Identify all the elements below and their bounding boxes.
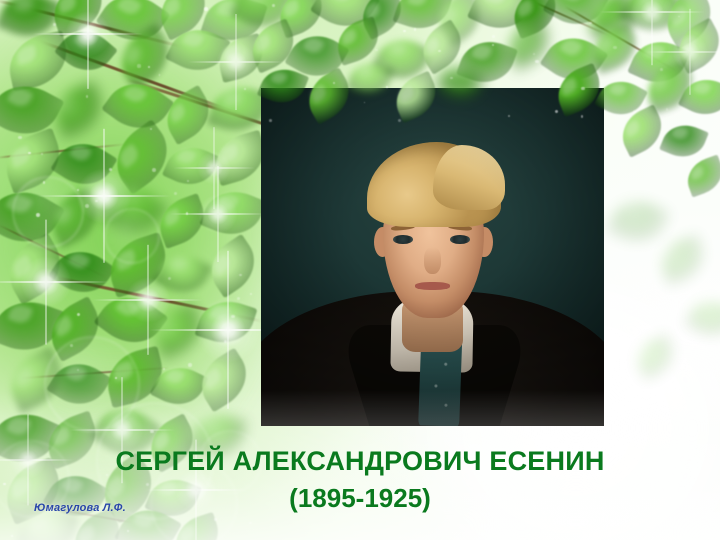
portrait-photo xyxy=(261,88,604,426)
page-title: СЕРГЕЙ АЛЕКСАНДРОВИЧ ЕСЕНИН xyxy=(0,444,720,478)
author-watermark: Юмагулова Л.Ф. xyxy=(34,502,126,514)
portrait-vignette xyxy=(261,88,604,426)
slide-canvas: СЕРГЕЙ АЛЕКСАНДРОВИЧ ЕСЕНИН (1895-1925) … xyxy=(0,0,720,540)
